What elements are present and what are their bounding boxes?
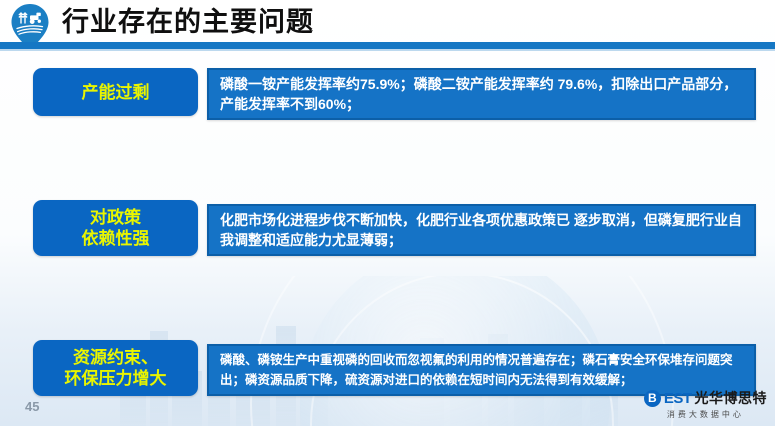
header-divider-thin [0,49,775,51]
slide: 行业存在的主要问题 产能过剩 磷酸一铵产能发挥率约75.9%；磷酸二铵产能发挥率… [0,0,775,426]
logo-main-row: B EST 光华博思特 [644,388,767,408]
logo-company-name: 光华博思特 [695,388,768,408]
issue-row: 产能过剩 磷酸一铵产能发挥率约75.9%；磷酸二铵产能发挥率约 79.6%，扣除… [0,62,775,110]
issue-label-1[interactable]: 产能过剩 [33,68,198,116]
logo-b-mark-icon: B [644,390,661,407]
company-logo: B EST 光华博思特 消费大数据中心 [644,388,767,420]
header-divider [0,42,775,49]
slide-header: 行业存在的主要问题 [0,0,775,52]
logo-best-text: EST [664,390,692,407]
logo-subtitle: 消费大数据中心 [667,409,744,420]
issue-row: 资源约束、 环保压力增大 磷酸、磷铵生产中重视磷的回收而忽视氟的利用的情况普遍存… [0,198,775,254]
page-number: 45 [25,399,39,414]
page-title: 行业存在的主要问题 [62,4,314,40]
issue-label-line: 产能过剩 [82,82,150,103]
issue-row: 创新能力 亟待增强 自主创新能力不足、技术创新上急功近利，缺乏技术创新 的领军人… [0,268,775,324]
issue-content-1: 磷酸一铵产能发挥率约75.9%；磷酸二铵产能发挥率约 79.6%，扣除出口产品部… [207,68,756,120]
issue-row: 对政策 依赖性强 化肥市场化进程步伐不断加快，化肥行业各项优惠政策已 逐步取消，… [0,128,775,184]
issue-content-text: 磷酸一铵产能发挥率约75.9%；磷酸二铵产能发挥率约 79.6%，扣除出口产品部… [209,74,754,114]
issue-row: 与农业发 展不匹配 无论产品还是服务模式、内容，还不能完全适应现代农业的需要。 [0,336,775,392]
